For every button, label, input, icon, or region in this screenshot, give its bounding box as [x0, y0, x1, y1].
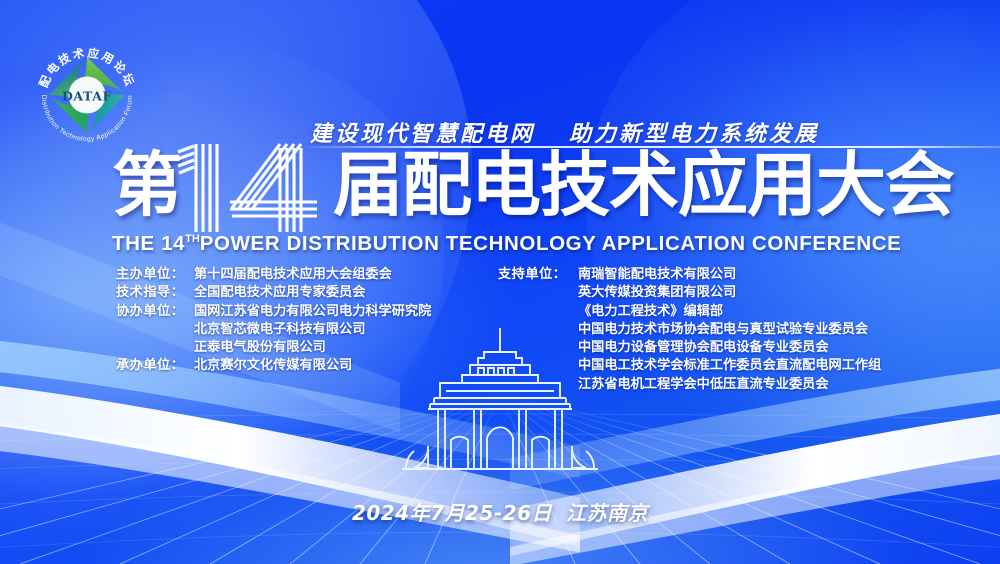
- event-location: 江苏南京: [566, 501, 648, 525]
- logo-acronym-text: DATAF: [62, 89, 112, 104]
- supporter-line: 支持单位： 南瑞智能配电技术有限公司: [498, 266, 918, 284]
- organizer-value: 第十四届配电技术应用大会组委会: [194, 266, 498, 284]
- subtitle-pre: THE 14: [112, 232, 185, 255]
- nanjing-landmark-gate-icon: [400, 328, 600, 476]
- title-row: 第14届配电技术应用大会: [112, 152, 912, 230]
- organizer-label: 技术指导：: [116, 284, 194, 302]
- supporter-value: 江苏省电机工程学会中低压直流专业委员会: [578, 376, 918, 394]
- organizer-value: 国网江苏省电力有限公司电力科学研究院: [194, 303, 498, 321]
- supporter-value: 中国电力设备管理协会配电设备专业委员会: [578, 339, 918, 357]
- subtitle-post: POWER DISTRIBUTION TECHNOLOGY APPLICATIO…: [200, 232, 902, 255]
- supporter-value: 英大传媒投资集团有限公司: [578, 284, 918, 302]
- organizer-label: 承办单位：: [116, 357, 194, 375]
- organizer-line: 主办单位： 第十四届配电技术应用大会组委会: [116, 266, 498, 284]
- organizer-line: 协办单位： 国网江苏省电力有限公司电力科学研究院: [116, 303, 498, 321]
- tagline-part-1: 建设现代智慧配电网: [310, 121, 535, 146]
- headline-block: 建设现代智慧配电网助力新型电力系统发展 第14届配电技术应用大会: [112, 112, 912, 256]
- tagline-part-2: 助力新型电力系统发展: [569, 121, 819, 146]
- supporter-line: 支持单位： 英大传媒投资集团有限公司: [498, 284, 918, 302]
- supporter-value: 《电力工程技术》编辑部: [578, 303, 918, 321]
- supporter-value: 中国电力技术市场协会配电与真型试验专业委员会: [578, 321, 918, 339]
- supporter-value: 南瑞智能配电技术有限公司: [578, 266, 918, 284]
- organizer-label: 协办单位：: [116, 303, 194, 321]
- organizer-value: 全国配电技术应用专家委员会: [194, 284, 498, 302]
- organizer-label: 主办单位：: [116, 266, 194, 284]
- event-date-location: 2024年7月25-26日江苏南京: [0, 497, 1000, 526]
- title-suffix: 届配电技术应用大会: [333, 144, 954, 226]
- subtitle-english: THE 14THPOWER DISTRIBUTION TECHNOLOGY AP…: [112, 232, 912, 256]
- edition-number-14-graphic: [170, 138, 320, 234]
- supporter-label: 支持单位：: [498, 266, 578, 284]
- event-date: 2024年7月25-26日: [352, 501, 552, 525]
- organizer-line: 技术指导： 全国配电技术应用专家委员会: [116, 284, 498, 302]
- supporter-line: 支持单位： 《电力工程技术》编辑部: [498, 303, 918, 321]
- conference-banner: DATAF 配电技术应用论坛 Distribution Technology A…: [0, 0, 1000, 564]
- supporter-value: 中国电工技术学会标准工作委员会直流配电网工作组: [578, 357, 918, 375]
- subtitle-ordinal-suffix: TH: [185, 233, 200, 245]
